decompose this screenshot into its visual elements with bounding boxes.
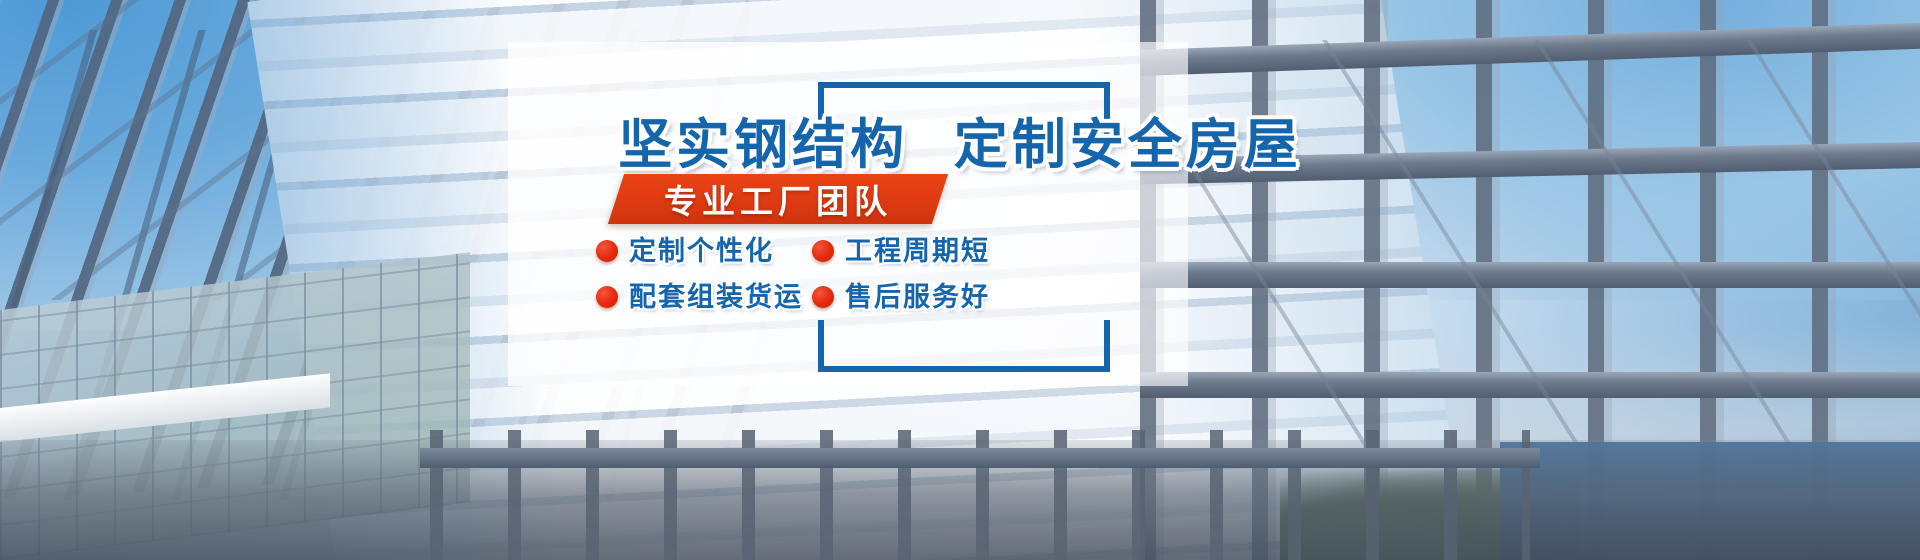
feature-label-4: 售后服务好: [845, 284, 990, 311]
feature-item-3: 配套组装货运: [596, 274, 812, 320]
red-dot-icon: [812, 286, 834, 308]
feature-item-2: 工程周期短: [812, 228, 1026, 274]
ribbon-label: 专业工厂团队: [616, 174, 940, 224]
red-dot-icon: [596, 286, 618, 308]
red-dot-icon: [596, 240, 618, 262]
feature-label-3: 配套组装货运: [629, 284, 803, 311]
feature-item-1: 定制个性化: [596, 228, 812, 274]
promo-banner: 坚实钢结构 定制安全房屋 专业工厂团队 定制个性化 工程周期短 配套组装货运 售…: [0, 0, 1920, 560]
feature-label-2: 工程周期短: [845, 238, 990, 265]
banner-headline: 坚实钢结构 定制安全房屋: [0, 118, 1920, 172]
ground-level-beam: [420, 448, 1540, 468]
feature-list: 定制个性化 工程周期短 配套组装货运 售后服务好: [596, 228, 1026, 320]
red-dot-icon: [812, 240, 834, 262]
steel-diagonal-braces: [1160, 40, 1920, 460]
ribbon-container: 专业工厂团队: [0, 174, 1920, 226]
feature-label-1: 定制个性化: [629, 238, 774, 265]
feature-item-4: 售后服务好: [812, 274, 1026, 320]
